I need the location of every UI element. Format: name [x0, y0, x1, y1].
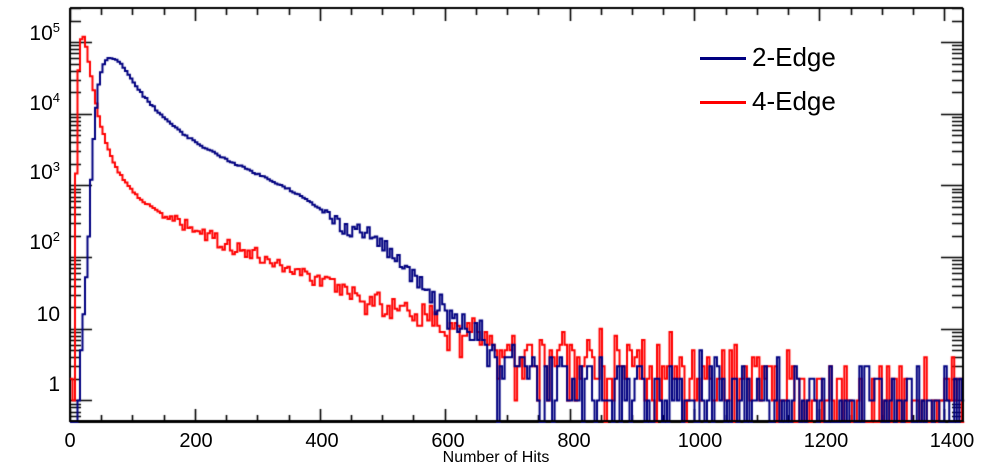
chart-container: 105 104 103 102 10 1 0 200 400 600 800 1… — [0, 0, 996, 472]
histogram-canvas — [0, 0, 996, 472]
